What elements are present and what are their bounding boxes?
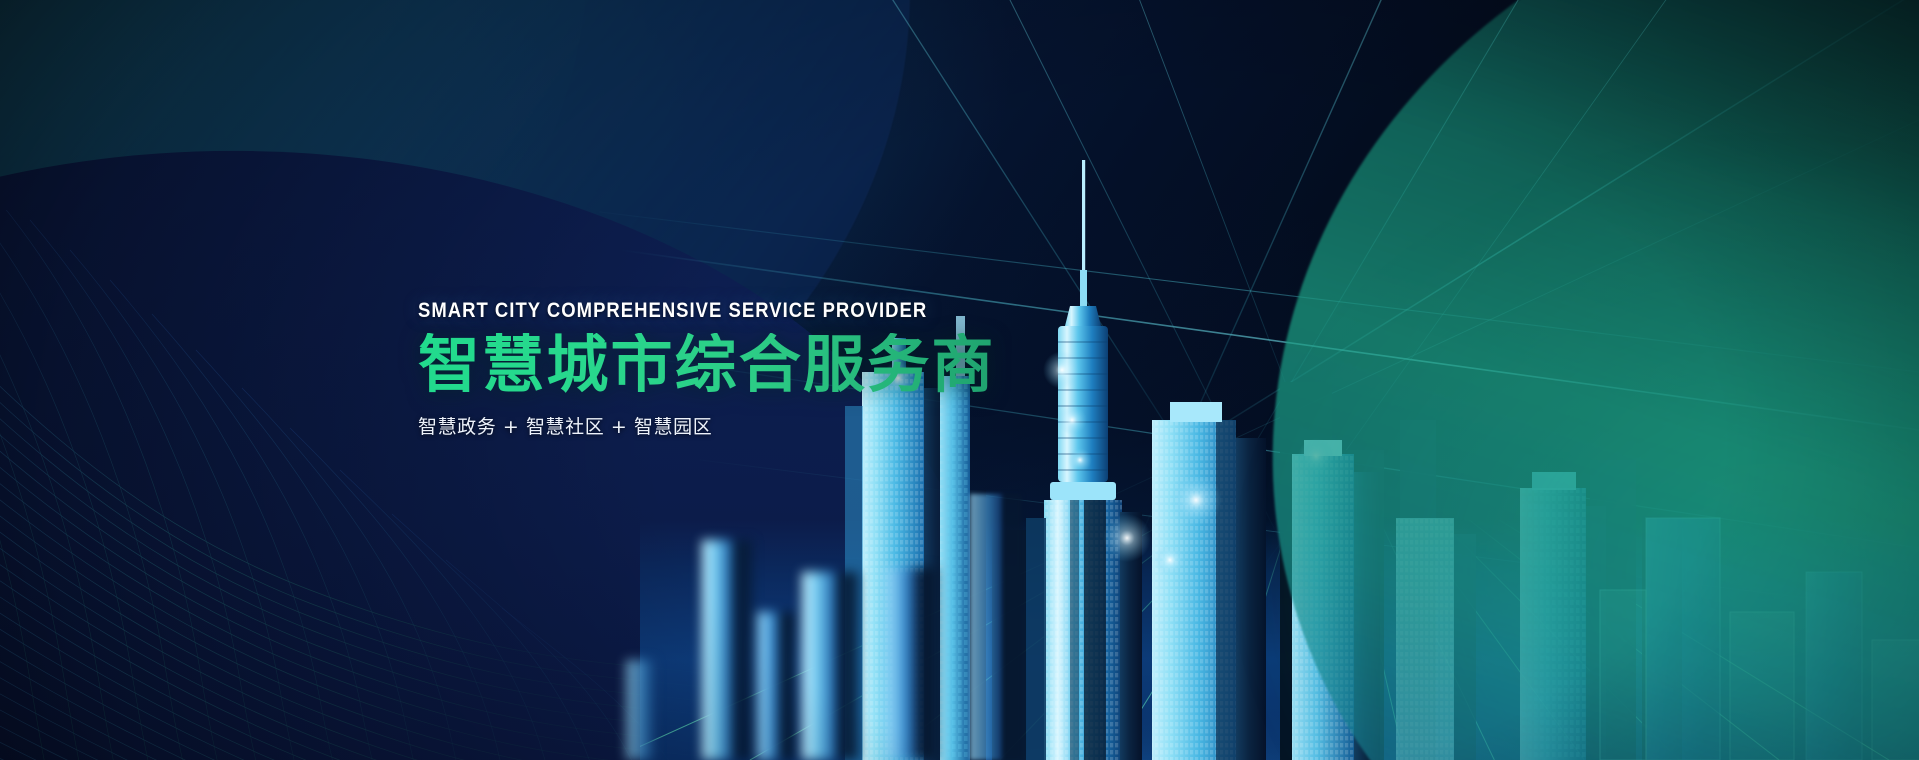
hero-copy: SMART CITY COMPREHENSIVE SERVICE PROVIDE…: [418, 300, 1178, 439]
wireframe-mesh: [0, 210, 700, 760]
hero-headline: 智慧城市综合服务商: [418, 333, 1178, 399]
city-skyline: [640, 120, 1919, 760]
central-tower: [1026, 160, 1151, 760]
hero-subline: 智慧政务 + 智慧社区 + 智慧园区: [418, 415, 1178, 440]
hero-eyebrow: SMART CITY COMPREHENSIVE SERVICE PROVIDE…: [418, 300, 1087, 321]
hero-banner: SMART CITY COMPREHENSIVE SERVICE PROVIDE…: [0, 0, 1919, 760]
